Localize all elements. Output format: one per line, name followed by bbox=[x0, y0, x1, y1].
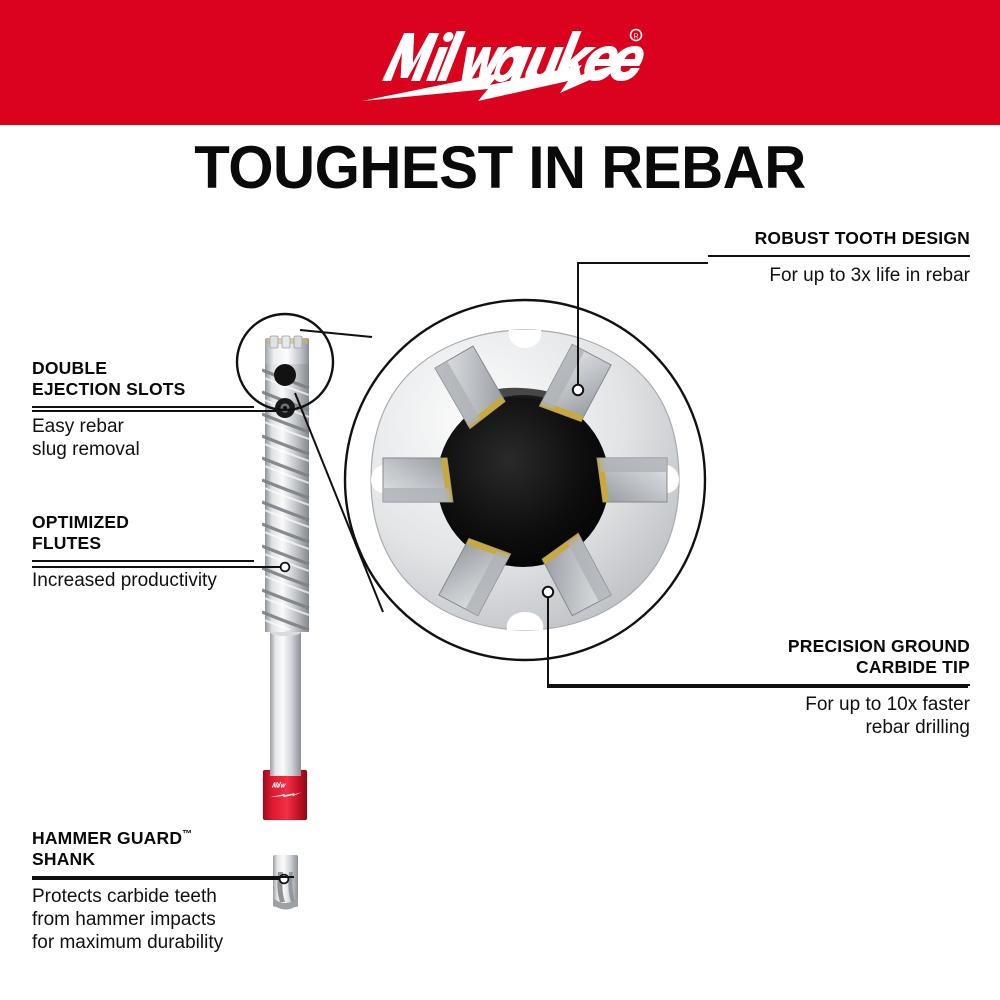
callout-body: Increased productivity bbox=[32, 569, 254, 592]
callout-heading-main: HAMMER GUARD bbox=[32, 828, 182, 848]
callout-heading: ROBUST TOOTH DESIGN bbox=[708, 228, 970, 249]
drill-head-small bbox=[265, 336, 309, 364]
callout-heading: DOUBLE EJECTION SLOTS bbox=[32, 358, 254, 400]
callout-body: For up to 3x life in rebar bbox=[708, 264, 970, 287]
callout-heading: HAMMER GUARD™SHANK bbox=[32, 824, 294, 870]
callout-robust-tooth-design: ROBUST TOOTH DESIGN For up to 3x life in… bbox=[708, 228, 970, 287]
drill-shaft bbox=[270, 628, 301, 776]
magnified-tip-view bbox=[295, 300, 705, 660]
callout-rule bbox=[708, 255, 970, 257]
drill-tip-cross-section bbox=[371, 330, 679, 630]
callout-double-ejection-slots: DOUBLE EJECTION SLOTS Easy rebar slug re… bbox=[32, 358, 254, 461]
callout-hammer-guard-shank: HAMMER GUARD™SHANK Protects carbide teet… bbox=[32, 824, 294, 954]
callout-body: For up to 10x faster rebar drilling bbox=[548, 693, 970, 739]
callout-rule bbox=[548, 684, 970, 686]
callout-heading: PRECISION GROUND CARBIDE TIP bbox=[548, 636, 970, 678]
callout-heading-second-line: SHANK bbox=[32, 849, 95, 869]
callout-heading: OPTIMIZED FLUTES bbox=[32, 512, 254, 554]
callout-body: Easy rebar slug removal bbox=[32, 415, 254, 461]
callout-rule bbox=[32, 406, 254, 408]
callout-precision-ground-carbide-tip: PRECISION GROUND CARBIDE TIP For up to 1… bbox=[548, 636, 970, 739]
callout-optimized-flutes: OPTIMIZED FLUTES Increased productivity bbox=[32, 512, 254, 592]
trademark-symbol: ™ bbox=[182, 829, 192, 840]
callout-body: Protects carbide teeth from hammer impac… bbox=[32, 885, 294, 954]
callout-rule bbox=[32, 876, 294, 878]
callout-rule bbox=[32, 560, 254, 562]
infographic-page: R TOUGHEST IN REBAR bbox=[0, 0, 1000, 1000]
brand-band bbox=[263, 770, 307, 820]
